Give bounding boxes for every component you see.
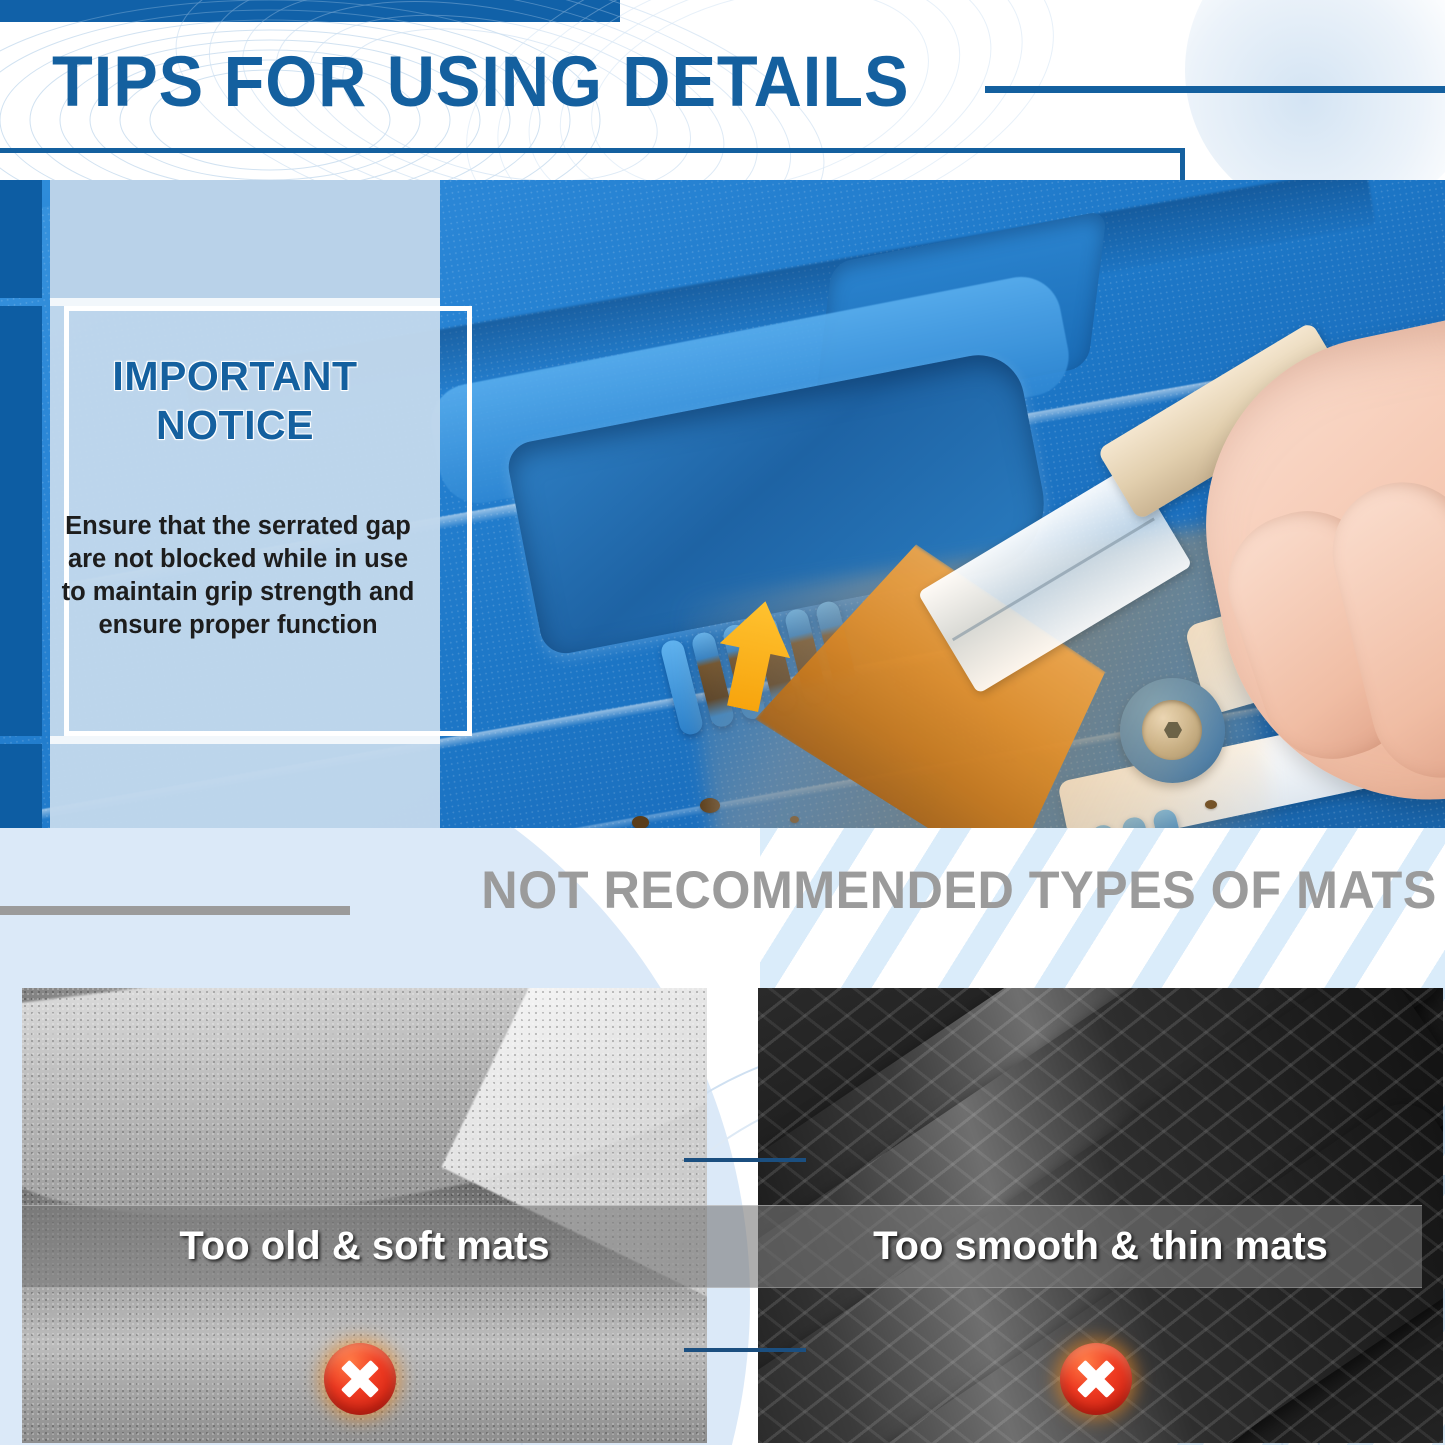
- notice-panel-top-block: [50, 180, 440, 298]
- card-connector-line-top: [684, 1158, 806, 1162]
- hero-section: IMPORTANT NOTICE Ensure that the serrate…: [0, 180, 1445, 828]
- section2-rule: [0, 906, 350, 915]
- notice-title: IMPORTANT NOTICE: [70, 352, 400, 450]
- notice-panel-gap-top: [50, 298, 440, 306]
- card-connector-line-bottom: [684, 1348, 806, 1352]
- left-rail-segment-top: [0, 180, 42, 298]
- left-rail-segment-middle: [0, 306, 42, 736]
- header-underline-tick: [1180, 148, 1185, 180]
- page-title: TIPS FOR USING DETAILS: [52, 42, 909, 123]
- x-badge-icon: [1060, 1343, 1132, 1415]
- notice-panel-gap-bottom: [50, 736, 440, 744]
- x-badge-icon: [324, 1343, 396, 1415]
- header-band: TIPS FOR USING DETAILS: [0, 0, 1445, 180]
- dirt-speck: [632, 816, 649, 828]
- caption-old-soft-mats: Too old & soft mats: [22, 1218, 707, 1274]
- caption-smooth-thin-mats: Too smooth & thin mats: [758, 1218, 1443, 1274]
- header-underline: [0, 148, 1185, 153]
- section2-title: NOT RECOMMENDED TYPES OF MATS: [481, 860, 1437, 921]
- notice-body-text: Ensure that the serrated gap are not blo…: [60, 510, 416, 642]
- infographic-page: TIPS FOR USING DETAILS: [0, 0, 1445, 1445]
- left-rail-segment-bottom: [0, 744, 42, 828]
- header-title-rule: [985, 86, 1445, 93]
